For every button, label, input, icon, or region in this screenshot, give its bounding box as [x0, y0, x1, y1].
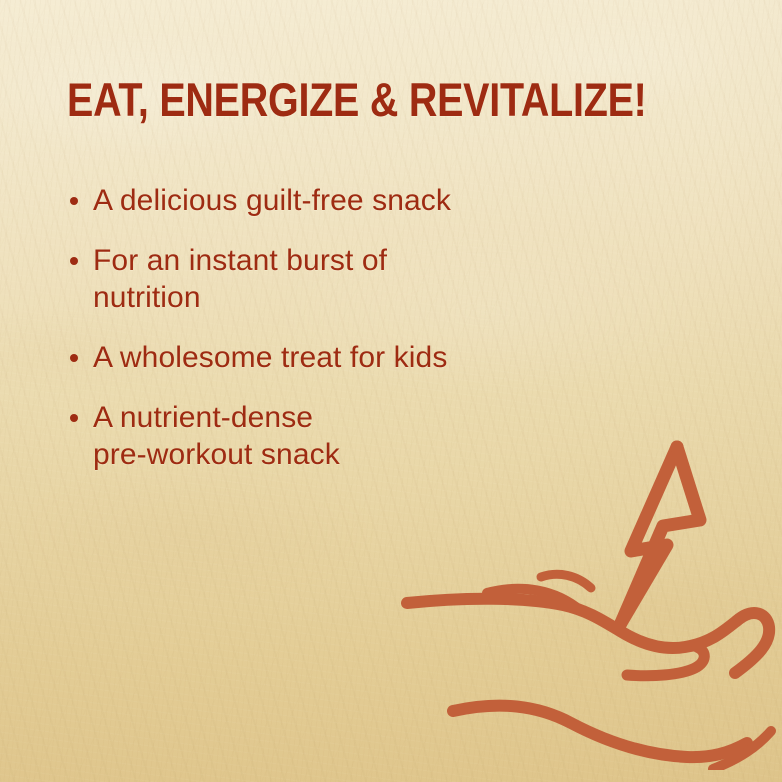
bullet-dot-icon	[70, 414, 78, 422]
list-item-label: A delicious guilt-free snack	[93, 182, 667, 219]
list-item: A wholesome treat for kids	[67, 339, 667, 376]
finger-stroke-upper	[541, 574, 591, 588]
bullet-dot-icon	[70, 354, 78, 362]
list-item-label: A wholesome treat for kids	[93, 339, 667, 376]
page-title: EAT, ENERGIZE & REVITALIZE!	[67, 76, 647, 123]
list-item-label: For an instant burst of nutrition	[93, 242, 667, 316]
poster-canvas: EAT, ENERGIZE & REVITALIZE! A delicious …	[0, 0, 782, 782]
hand-with-lightning-bolt-illustration	[395, 425, 782, 770]
illustration-svg	[395, 425, 782, 770]
bullet-dot-icon	[70, 197, 78, 205]
hand-outline-bottom	[453, 706, 747, 757]
hand-outline-top	[407, 599, 769, 673]
list-item: For an instant burst of nutrition	[67, 242, 667, 316]
bullet-dot-icon	[70, 257, 78, 265]
list-item: A delicious guilt-free snack	[67, 182, 667, 219]
